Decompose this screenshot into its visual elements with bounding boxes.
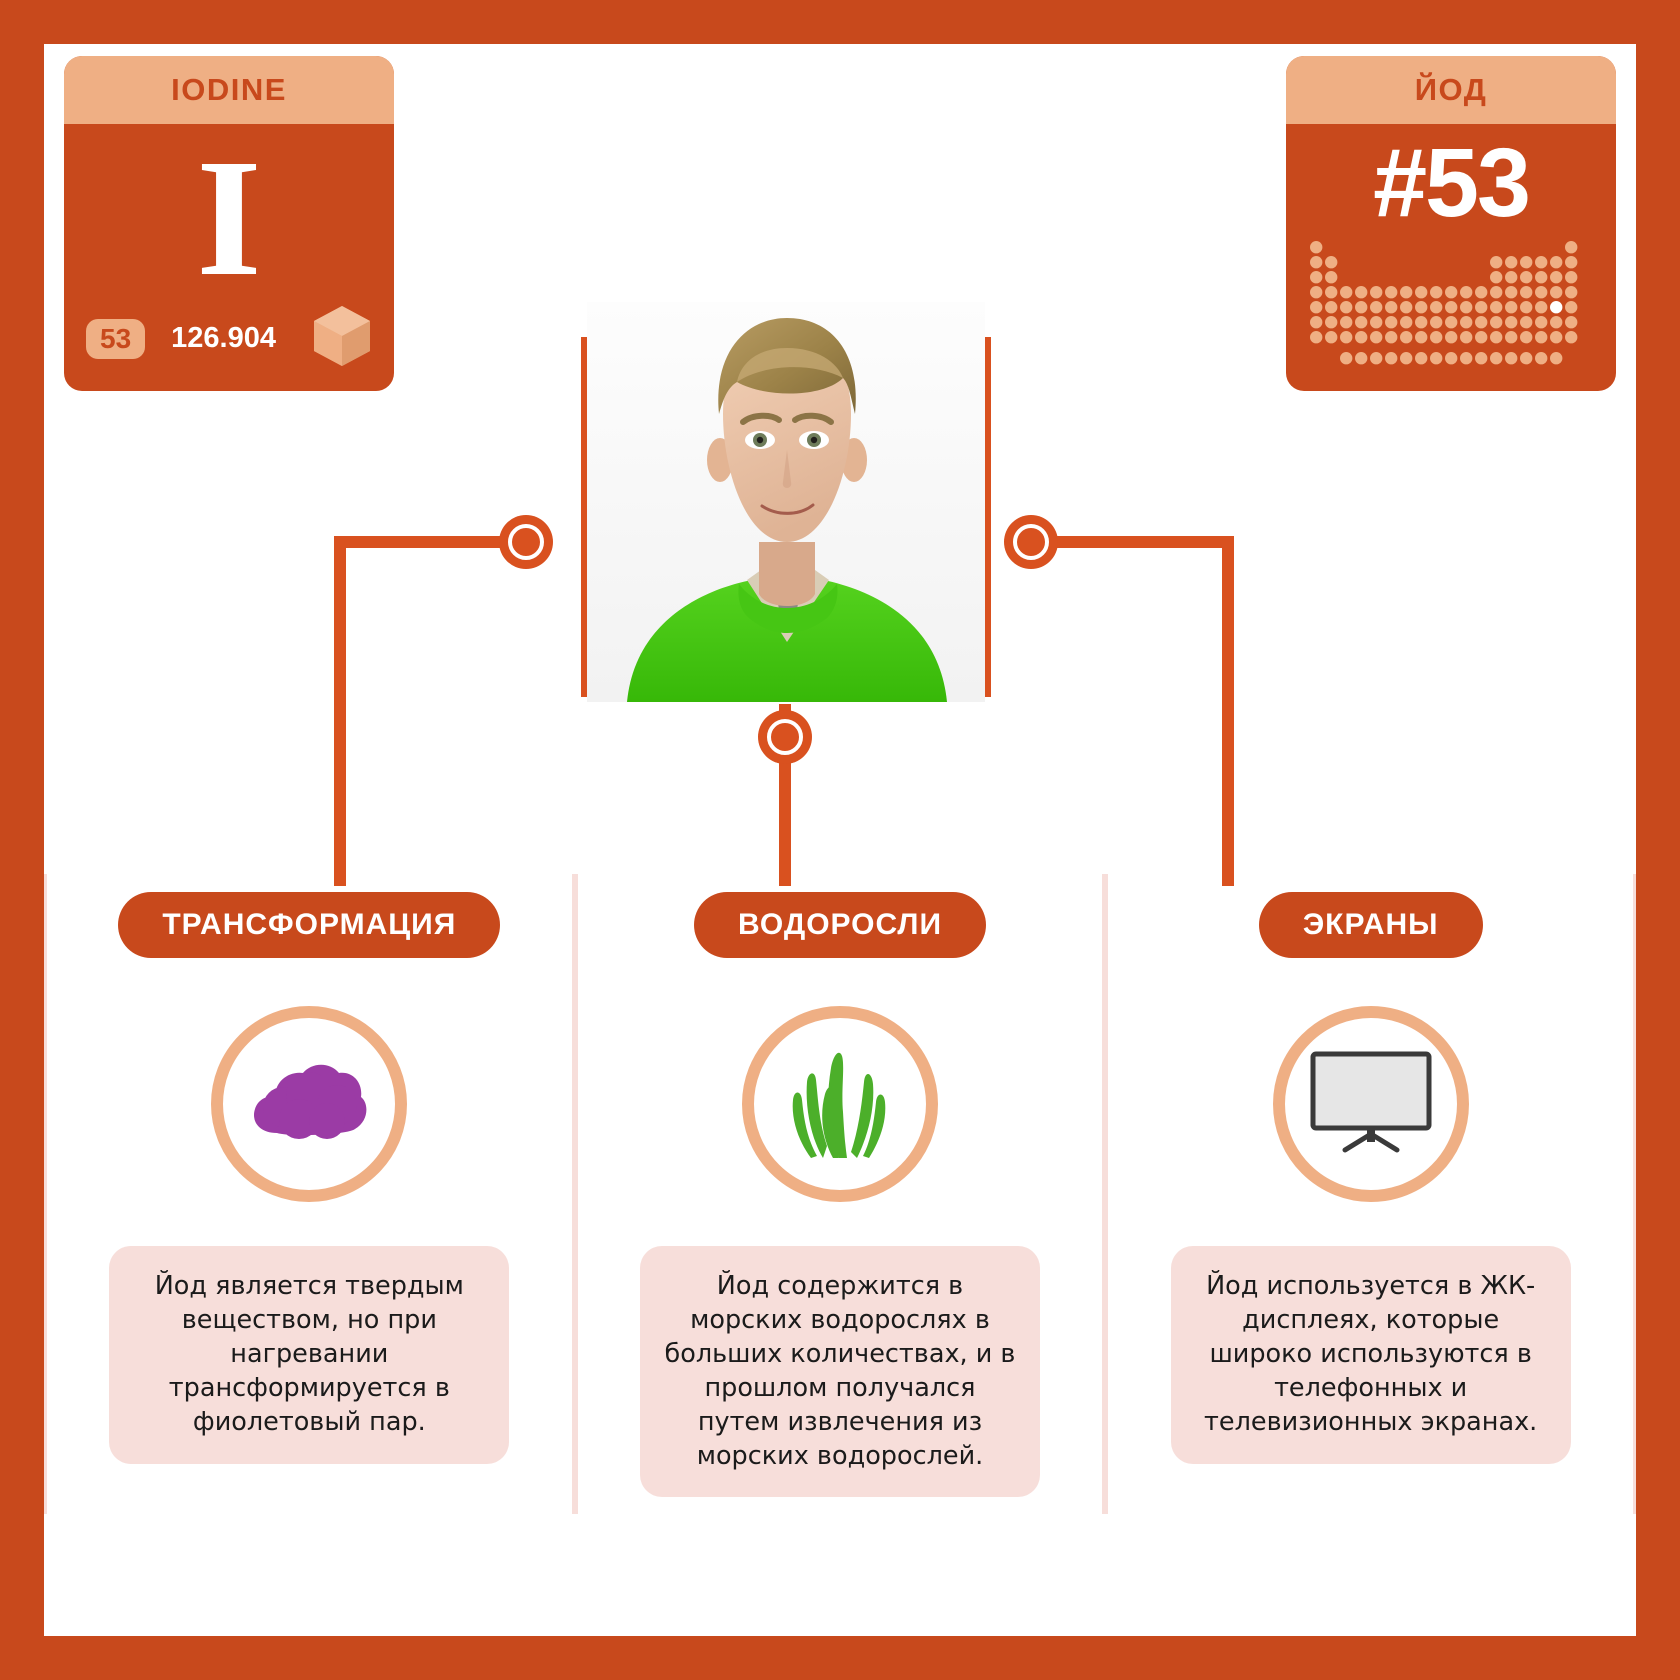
element-symbol: I [64,134,394,302]
description-seaweed: Йод содержится в морских водорослях в бо… [640,1246,1040,1497]
category-label: ВОДОРОСЛИ [738,908,942,941]
category-label: ТРАНСФОРМАЦИЯ [162,908,456,941]
icon-circle-transformation [211,1006,407,1202]
description-transformation: Йод является твердым веществом, но при н… [109,1246,509,1464]
element-card: IODINE I 53 126.904 [64,56,394,391]
connector-node-left [499,515,553,569]
connector-right-horizontal [1029,536,1234,548]
atomic-number-display: #53 [1286,124,1616,231]
category-pill-transformation[interactable]: ТРАНСФОРМАЦИЯ [118,892,500,958]
category-pill-screens[interactable]: ЭКРАНЫ [1259,892,1483,958]
element-card-footer: 53 126.904 [64,304,394,373]
atomic-number-badge: 53 [86,319,145,359]
element-name-ru: ЙОД [1415,72,1488,108]
atomic-number-card: ЙОД #53 [1286,56,1616,391]
column-screens: ЭКРАНЫ Йод используется в ЖК-дисплеях, к… [1105,874,1636,1514]
element-card-header: IODINE [64,56,394,124]
connector-node-center [758,710,812,764]
icon-circle-seaweed [742,1006,938,1202]
connector-right-vertical [1222,536,1234,886]
connector-node-right [1004,515,1058,569]
periodic-table-dots-icon [1286,237,1616,367]
seaweed-icon [785,1046,895,1163]
description-screens: Йод используется в ЖК-дисплеях, которые … [1171,1246,1571,1464]
category-label: ЭКРАНЫ [1303,908,1439,941]
icon-circle-screens [1273,1006,1469,1202]
number-card-header: ЙОД [1286,56,1616,124]
cube-icon [312,304,372,373]
category-pill-seaweed[interactable]: ВОДОРОСЛИ [694,892,986,958]
column-transformation: ТРАНСФОРМАЦИЯ Йод является [44,874,575,1514]
category-columns: ТРАНСФОРМАЦИЯ Йод является [44,874,1636,1514]
infographic-canvas: IODINE I 53 126.904 ЙОД [44,44,1636,1636]
infographic-page: IODINE I 53 126.904 ЙОД [0,0,1680,1680]
element-name-en: IODINE [171,72,287,108]
purple-cloud-icon [249,1059,369,1150]
column-seaweed: ВОДОРОСЛИ [575,874,1106,1514]
student-portrait [587,302,985,702]
monitor-screen-icon [1307,1050,1435,1159]
atomic-mass: 126.904 [171,322,276,355]
connector-left-vertical [334,536,346,886]
